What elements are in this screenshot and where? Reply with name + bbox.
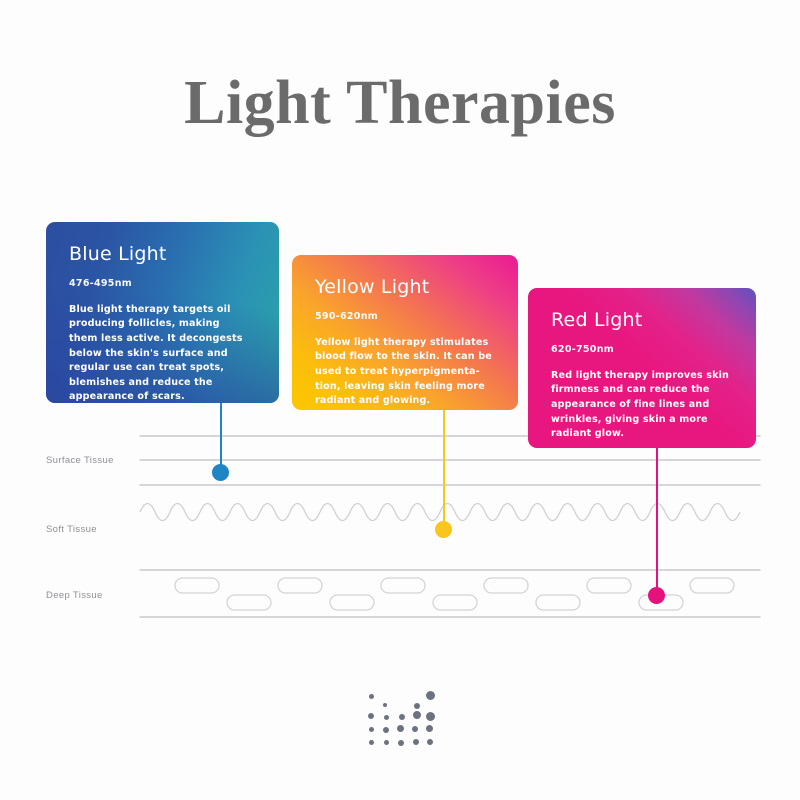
card-yellow-wavelength: 590-620nm [315,311,496,322]
card-yellow-title: Yellow Light [315,277,496,298]
tissue-label-surface: Surface Tissue [46,455,114,466]
connector-line-red [656,446,658,594]
marker-dot-red[interactable] [648,587,665,604]
card-red-wavelength: 620-750nm [551,344,734,355]
soft-tissue-wave [140,504,740,521]
card-red-title: Red Light [551,310,734,331]
card-blue-light[interactable]: Blue Light 476-495nm Blue light therapy … [46,222,279,403]
tissue-label-deep: Deep Tissue [46,590,103,601]
infographic-canvas: Light Therapies [0,0,800,800]
connector-line-blue [220,400,222,472]
marker-dot-blue[interactable] [212,464,229,481]
tissue-label-soft: Soft Tissue [46,524,97,535]
card-yellow-light[interactable]: Yellow Light 590-620nm Yellow light ther… [292,255,518,410]
card-red-light[interactable]: Red Light 620-750nm Red light therapy im… [528,288,756,448]
card-blue-title: Blue Light [69,244,257,265]
deep-tissue-capsules-lower [227,595,683,610]
card-red-body: Red light therapy improves skin firmness… [551,369,734,442]
connector-line-yellow [443,408,445,528]
dot-grid-ornament-icon [365,690,435,750]
card-blue-body: Blue light therapy targets oil producing… [69,303,257,403]
card-yellow-body: Yellow light therapy stimulates blood fl… [315,336,496,409]
marker-dot-yellow[interactable] [435,521,452,538]
card-blue-wavelength: 476-495nm [69,278,257,289]
